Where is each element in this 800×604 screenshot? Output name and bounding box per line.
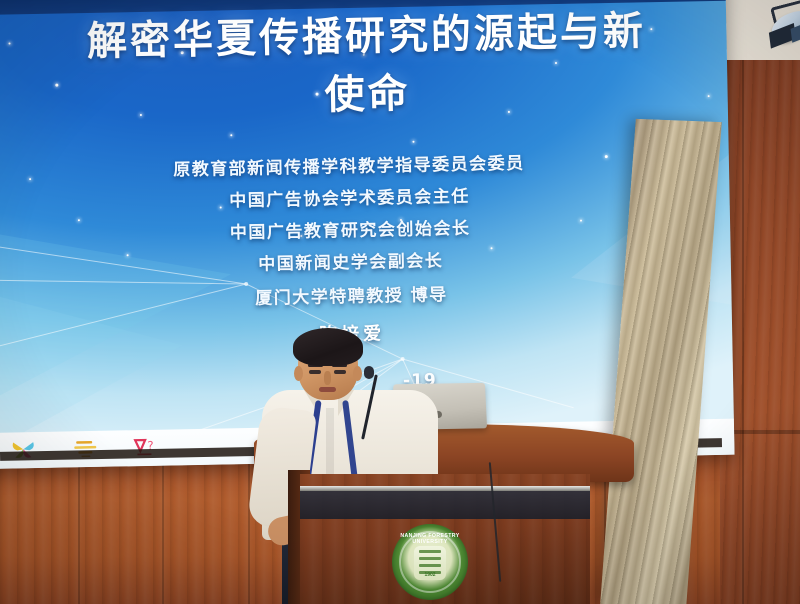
slide-title: 解密华夏传播研究的源起与新使命 bbox=[66, 0, 668, 125]
hair bbox=[293, 328, 363, 366]
mouth bbox=[319, 387, 336, 392]
stage-spotlight-icon bbox=[764, 0, 800, 48]
emblem-year: 1902 bbox=[392, 572, 468, 578]
nanjing-forestry-university-emblem: NANJING FORESTRY UNIVERSITY 1902 bbox=[392, 524, 468, 600]
microphone-icon bbox=[364, 366, 374, 379]
nose bbox=[324, 371, 331, 385]
podium-shadow-panel bbox=[300, 491, 590, 519]
emblem-arc-text: NANJING FORESTRY UNIVERSITY bbox=[392, 533, 468, 545]
conference-hall-photo: 媒介融合的数字化转型 解密华夏传播研究的源起与新使命 原教育部新闻传播学科教学指… bbox=[0, 0, 800, 604]
